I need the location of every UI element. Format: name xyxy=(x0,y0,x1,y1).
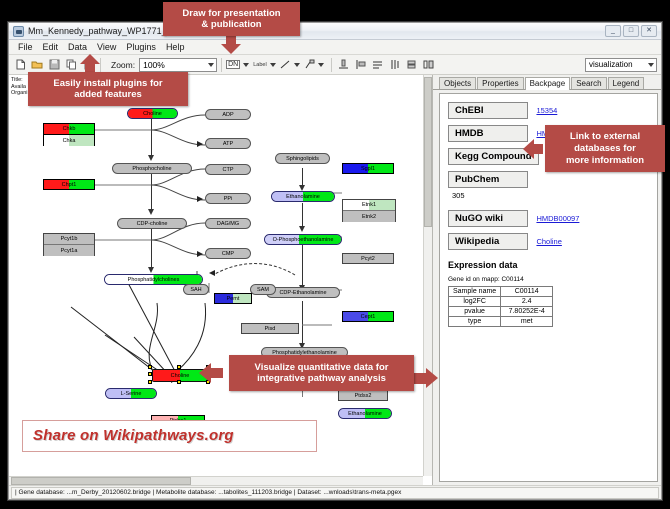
node-sam[interactable]: SAM xyxy=(250,284,276,295)
align-left-icon[interactable] xyxy=(353,57,369,73)
tab-search[interactable]: Search xyxy=(571,77,606,89)
node-cmp[interactable]: CMP xyxy=(205,248,251,259)
table-row: Sample name C00114 xyxy=(449,287,553,297)
node-atp[interactable]: ATP xyxy=(205,138,251,149)
callout-draw-arrow xyxy=(221,36,241,54)
edge-ethanolamine-ophospho xyxy=(302,203,303,228)
callout-visualize-arrow xyxy=(199,363,223,383)
table-row: log2FC 2.4 xyxy=(449,297,553,307)
gene-label: Ptdss2 xyxy=(355,393,372,399)
line-tool-icon xyxy=(280,59,291,70)
callout-visualize-quantitative-data: Visualize quantitative data for integrat… xyxy=(229,355,414,391)
node-cdp-ethanolamine[interactable]: CDP-Ethanolamine xyxy=(266,287,340,298)
window-controls: _ □ ✕ xyxy=(605,25,657,37)
callout-plugins-arrow xyxy=(80,54,100,73)
tab-backpage[interactable]: Backpage xyxy=(525,77,571,90)
gene-box-etnk1[interactable]: Etnk1 xyxy=(343,200,395,211)
close-button[interactable]: ✕ xyxy=(641,25,657,37)
share-text: Share on Wikipathways.org xyxy=(33,427,234,444)
node-ppi[interactable]: PPi xyxy=(205,193,251,204)
gene-label: Sgpl1 xyxy=(361,166,375,172)
visualization-combobox[interactable]: visualization xyxy=(585,58,657,72)
gene-box-chpt1[interactable]: Chpt1 xyxy=(43,179,95,190)
share-banner: Share on Wikipathways.org xyxy=(22,420,317,452)
menu-item-file[interactable]: File xyxy=(13,42,38,52)
visualization-value: visualization xyxy=(589,60,633,69)
node-ethanolamine-top[interactable]: Ethanolamine xyxy=(271,191,335,202)
node-dag-mg[interactable]: DAG/MG xyxy=(205,218,251,229)
shape-tool[interactable] xyxy=(304,59,327,70)
chebi-link[interactable]: 15354 xyxy=(536,106,557,115)
node-label: DAG/MG xyxy=(217,221,239,227)
gene-label: Pcyt1a xyxy=(61,248,78,254)
expression-table: Sample name C00114 log2FC 2.4 pvalue 7.8… xyxy=(448,286,553,327)
gene-box-pcyt1b[interactable]: Pcyt1b xyxy=(44,234,94,245)
gene-box-chkb[interactable]: Chkb xyxy=(44,124,94,135)
node-label: SAM xyxy=(257,287,269,293)
cell-key: log2FC xyxy=(449,297,501,307)
minimize-button[interactable]: _ xyxy=(605,25,621,37)
node-label: SAH xyxy=(190,287,201,293)
app-icon xyxy=(13,26,24,37)
resize-handle[interactable] xyxy=(148,380,152,384)
canvas-horizontal-scrollbar[interactable] xyxy=(9,476,423,485)
chevron-down-icon[interactable] xyxy=(318,63,324,67)
node-label: Ethanolamine xyxy=(348,411,382,417)
edge-phosphocholine-cdpcholine xyxy=(151,171,152,211)
callout-line-1: Link to external xyxy=(570,131,640,143)
chevron-down-icon[interactable] xyxy=(294,63,300,67)
node-label: Phosphatidylcholines xyxy=(128,277,180,283)
gene-box-ptdss2[interactable]: Ptdss2 xyxy=(338,390,388,401)
title-bar: Mm_Kennedy_pathway_WP1771_45176.gpml _ □… xyxy=(9,23,661,40)
node-label: Phosphocholine xyxy=(132,166,171,172)
gene-box-pisd[interactable]: Pisd xyxy=(241,323,299,334)
gene-label: Pemt xyxy=(227,296,240,302)
cell-value: met xyxy=(501,317,553,327)
node-o-phosphoethanolamine[interactable]: O-Phosphoethanolamine xyxy=(264,234,342,245)
section-heading: ChEBI xyxy=(448,102,528,119)
gene-id-line: Gene id on mapp: C00114 xyxy=(448,276,649,283)
callout-line-2: databases for xyxy=(574,143,636,155)
pathway-canvas[interactable]: Title: Availa Organi xyxy=(9,75,423,476)
side-panel-tabs: Objects Properties Backpage Search Legen… xyxy=(433,75,661,90)
node-label: CTP xyxy=(223,167,234,173)
scrollbar-thumb[interactable] xyxy=(424,77,432,227)
pubchem-value: 305 xyxy=(452,191,649,200)
wikipedia-link[interactable]: Choline xyxy=(536,237,561,246)
arrowhead-icon xyxy=(197,141,203,147)
callout-line-3: more information xyxy=(566,155,644,167)
gene-box-cept1[interactable]: Cept1 xyxy=(342,311,394,322)
node-label: L-Serine xyxy=(121,391,142,397)
menu-item-edit[interactable]: Edit xyxy=(38,42,64,52)
callout-easily-install-plugins: Easily install plugins for added feature… xyxy=(28,72,188,106)
datanode-tool[interactable]: DN xyxy=(226,60,252,69)
tab-properties[interactable]: Properties xyxy=(477,77,523,89)
section-heading: PubChem xyxy=(448,171,528,188)
resize-handle[interactable] xyxy=(148,372,152,376)
menu-item-help[interactable]: Help xyxy=(161,42,190,52)
section-nugo: NuGO wiki HMDB00097 xyxy=(448,208,649,231)
save-icon[interactable] xyxy=(46,57,62,73)
node-label: CMP xyxy=(222,251,234,257)
table-row: type met xyxy=(449,317,553,327)
cell-key: Sample name xyxy=(449,287,501,297)
callout-line-2: & publication xyxy=(201,19,261,30)
shape-tool-icon xyxy=(304,59,315,70)
gene-label: Chkb xyxy=(63,126,76,132)
chevron-down-icon[interactable] xyxy=(243,63,249,67)
open-folder-icon[interactable] xyxy=(29,57,45,73)
node-label: Sphingolipids xyxy=(286,156,319,162)
maximize-button[interactable]: □ xyxy=(623,25,639,37)
node-label: Ethanolamine xyxy=(286,194,320,200)
cell-value: C00114 xyxy=(501,287,553,297)
arrowhead-icon xyxy=(197,251,203,257)
table-row: pvalue 7.80252E-4 xyxy=(449,307,553,317)
arrowhead-icon xyxy=(148,209,154,215)
new-document-icon[interactable] xyxy=(12,57,28,73)
node-label: PPi xyxy=(224,196,233,202)
section-heading: NuGO wiki xyxy=(448,210,528,227)
edge-cdpcholine-ptdcholine xyxy=(151,225,152,269)
arrowhead-icon xyxy=(299,226,305,232)
zoom-value: 100% xyxy=(143,60,165,70)
chevron-down-icon xyxy=(208,63,214,67)
datanode-icon: DN xyxy=(226,60,240,69)
arrowhead-icon xyxy=(197,196,203,202)
gene-label: Pisd xyxy=(265,326,276,332)
copy-icon[interactable] xyxy=(63,57,79,73)
menu-item-data[interactable]: Data xyxy=(63,42,92,52)
gene-label: Cept1 xyxy=(361,314,376,320)
gene-group-pcyt1: Pcyt1b Pcyt1a xyxy=(43,233,95,256)
status-bar: | Gene database: ...m_Derby_20120602.bri… xyxy=(9,485,661,499)
node-phosphocholine[interactable]: Phosphocholine xyxy=(112,163,192,174)
node-l-serine-left[interactable]: L-Serine xyxy=(105,388,157,399)
pathway-meta: Title: Availa Organi xyxy=(11,77,28,97)
node-label: ATP xyxy=(223,141,233,147)
nugo-link[interactable]: HMDB00097 xyxy=(536,214,579,223)
menu-bar: File Edit Data View Plugins Help xyxy=(9,40,661,55)
callout-line-2: integrative pathway analysis xyxy=(257,373,386,384)
gene-box-pcyt2[interactable]: Pcyt2 xyxy=(342,253,394,264)
status-text: | Gene database: ...m_Derby_20120602.bri… xyxy=(11,487,659,499)
arrowhead-icon xyxy=(148,155,154,161)
node-label: O-Phosphoethanolamine xyxy=(273,237,334,243)
callout-draw-for-publication: Draw for presentation & publication xyxy=(163,2,300,36)
chevron-down-icon[interactable] xyxy=(270,63,276,67)
zoom-label: Zoom: xyxy=(111,60,135,70)
distribute-vertical-icon[interactable] xyxy=(370,57,386,73)
callout-links-arrow xyxy=(523,139,543,159)
canvas-vertical-scrollbar[interactable] xyxy=(423,75,432,476)
node-choline-top[interactable]: Choline xyxy=(127,108,178,119)
chevron-down-icon xyxy=(648,63,654,67)
resize-handle[interactable] xyxy=(177,380,181,384)
cell-key: pvalue xyxy=(449,307,501,317)
label-tool[interactable]: Label xyxy=(253,62,278,68)
scrollbar-thumb[interactable] xyxy=(11,477,191,485)
gene-box-chka[interactable]: Chka xyxy=(44,135,94,146)
arrowhead-icon xyxy=(148,267,154,273)
node-sphingolipids[interactable]: Sphingolipids xyxy=(275,153,330,164)
gene-box-sgpl1[interactable]: Sgpl1 xyxy=(342,163,394,174)
cell-value: 2.4 xyxy=(501,297,553,307)
gene-group-etnk: Etnk1 Etnk2 xyxy=(342,199,396,222)
gene-label: Pcyt2 xyxy=(361,256,375,262)
section-heading: HMDB xyxy=(448,125,528,142)
section-wikipedia: Wikipedia Choline xyxy=(448,231,649,254)
edge-ophospho-cdpetn xyxy=(302,245,303,287)
toolbar-separator xyxy=(221,58,222,72)
cell-key: type xyxy=(449,317,501,327)
resize-handle[interactable] xyxy=(177,365,181,369)
gene-label: Chka xyxy=(63,138,76,144)
node-ctp[interactable]: CTP xyxy=(205,164,251,175)
stack-icon[interactable] xyxy=(404,57,420,73)
toolbar-separator xyxy=(100,58,101,72)
edge-cdpetn-ptdetn xyxy=(302,301,303,345)
node-label: Choline xyxy=(143,111,162,117)
node-label: Choline xyxy=(171,373,190,379)
gene-label: Etnk1 xyxy=(362,202,376,208)
label-tool-text: Label xyxy=(253,62,266,68)
gene-label: Etnk2 xyxy=(362,214,376,220)
align-bottom-icon[interactable] xyxy=(336,57,352,73)
section-heading: Wikipedia xyxy=(448,233,528,250)
menu-item-view[interactable]: View xyxy=(92,42,121,52)
node-adp[interactable]: ADP xyxy=(205,109,251,120)
zoom-combobox[interactable]: 100% xyxy=(139,58,217,72)
node-label: CDP-Ethanolamine xyxy=(279,290,326,296)
node-cdp-choline[interactable]: CDP-choline xyxy=(117,218,187,229)
cell-value: 7.80252E-4 xyxy=(501,307,553,317)
menu-item-plugins[interactable]: Plugins xyxy=(121,42,161,52)
gene-label: Pcyt1b xyxy=(61,236,78,242)
distribute-horizontal-icon[interactable] xyxy=(387,57,403,73)
gene-box-pemt[interactable]: Pemt xyxy=(214,293,252,304)
node-label: CDP-choline xyxy=(137,221,168,227)
line-tool[interactable] xyxy=(280,59,303,70)
callout-line-1: Easily install plugins for xyxy=(53,78,162,89)
toolbar-separator xyxy=(331,58,332,72)
gene-group-chk: Chkb Chka xyxy=(43,123,95,146)
section-pubchem: PubChem 305 xyxy=(448,169,649,200)
tab-legend[interactable]: Legend xyxy=(608,77,645,89)
arrowhead-icon xyxy=(209,270,215,276)
callout-line-1: Draw for presentation xyxy=(182,8,280,19)
callout-link-external-databases: Link to external databases for more info… xyxy=(545,125,665,172)
group-icon[interactable] xyxy=(421,57,437,73)
gene-box-etnk2[interactable]: Etnk2 xyxy=(343,211,395,222)
node-ethanolamine-low[interactable]: Ethanolamine xyxy=(338,408,392,419)
callout-line-1: Visualize quantitative data for xyxy=(255,362,389,373)
tab-objects[interactable]: Objects xyxy=(439,77,476,89)
node-sah[interactable]: SAH xyxy=(183,284,209,295)
section-chebi: ChEBI 15354 xyxy=(448,100,649,123)
gene-box-pcyt1a[interactable]: Pcyt1a xyxy=(44,245,94,256)
node-label: ADP xyxy=(222,112,233,118)
gene-label: Chpt1 xyxy=(62,182,77,188)
edge-choline-phosphocholine xyxy=(151,117,152,157)
meta-organism: Organi xyxy=(11,90,28,97)
resize-handle[interactable] xyxy=(148,365,152,369)
callout-line-2: added features xyxy=(74,89,142,100)
expression-data-title: Expression data xyxy=(448,260,649,270)
